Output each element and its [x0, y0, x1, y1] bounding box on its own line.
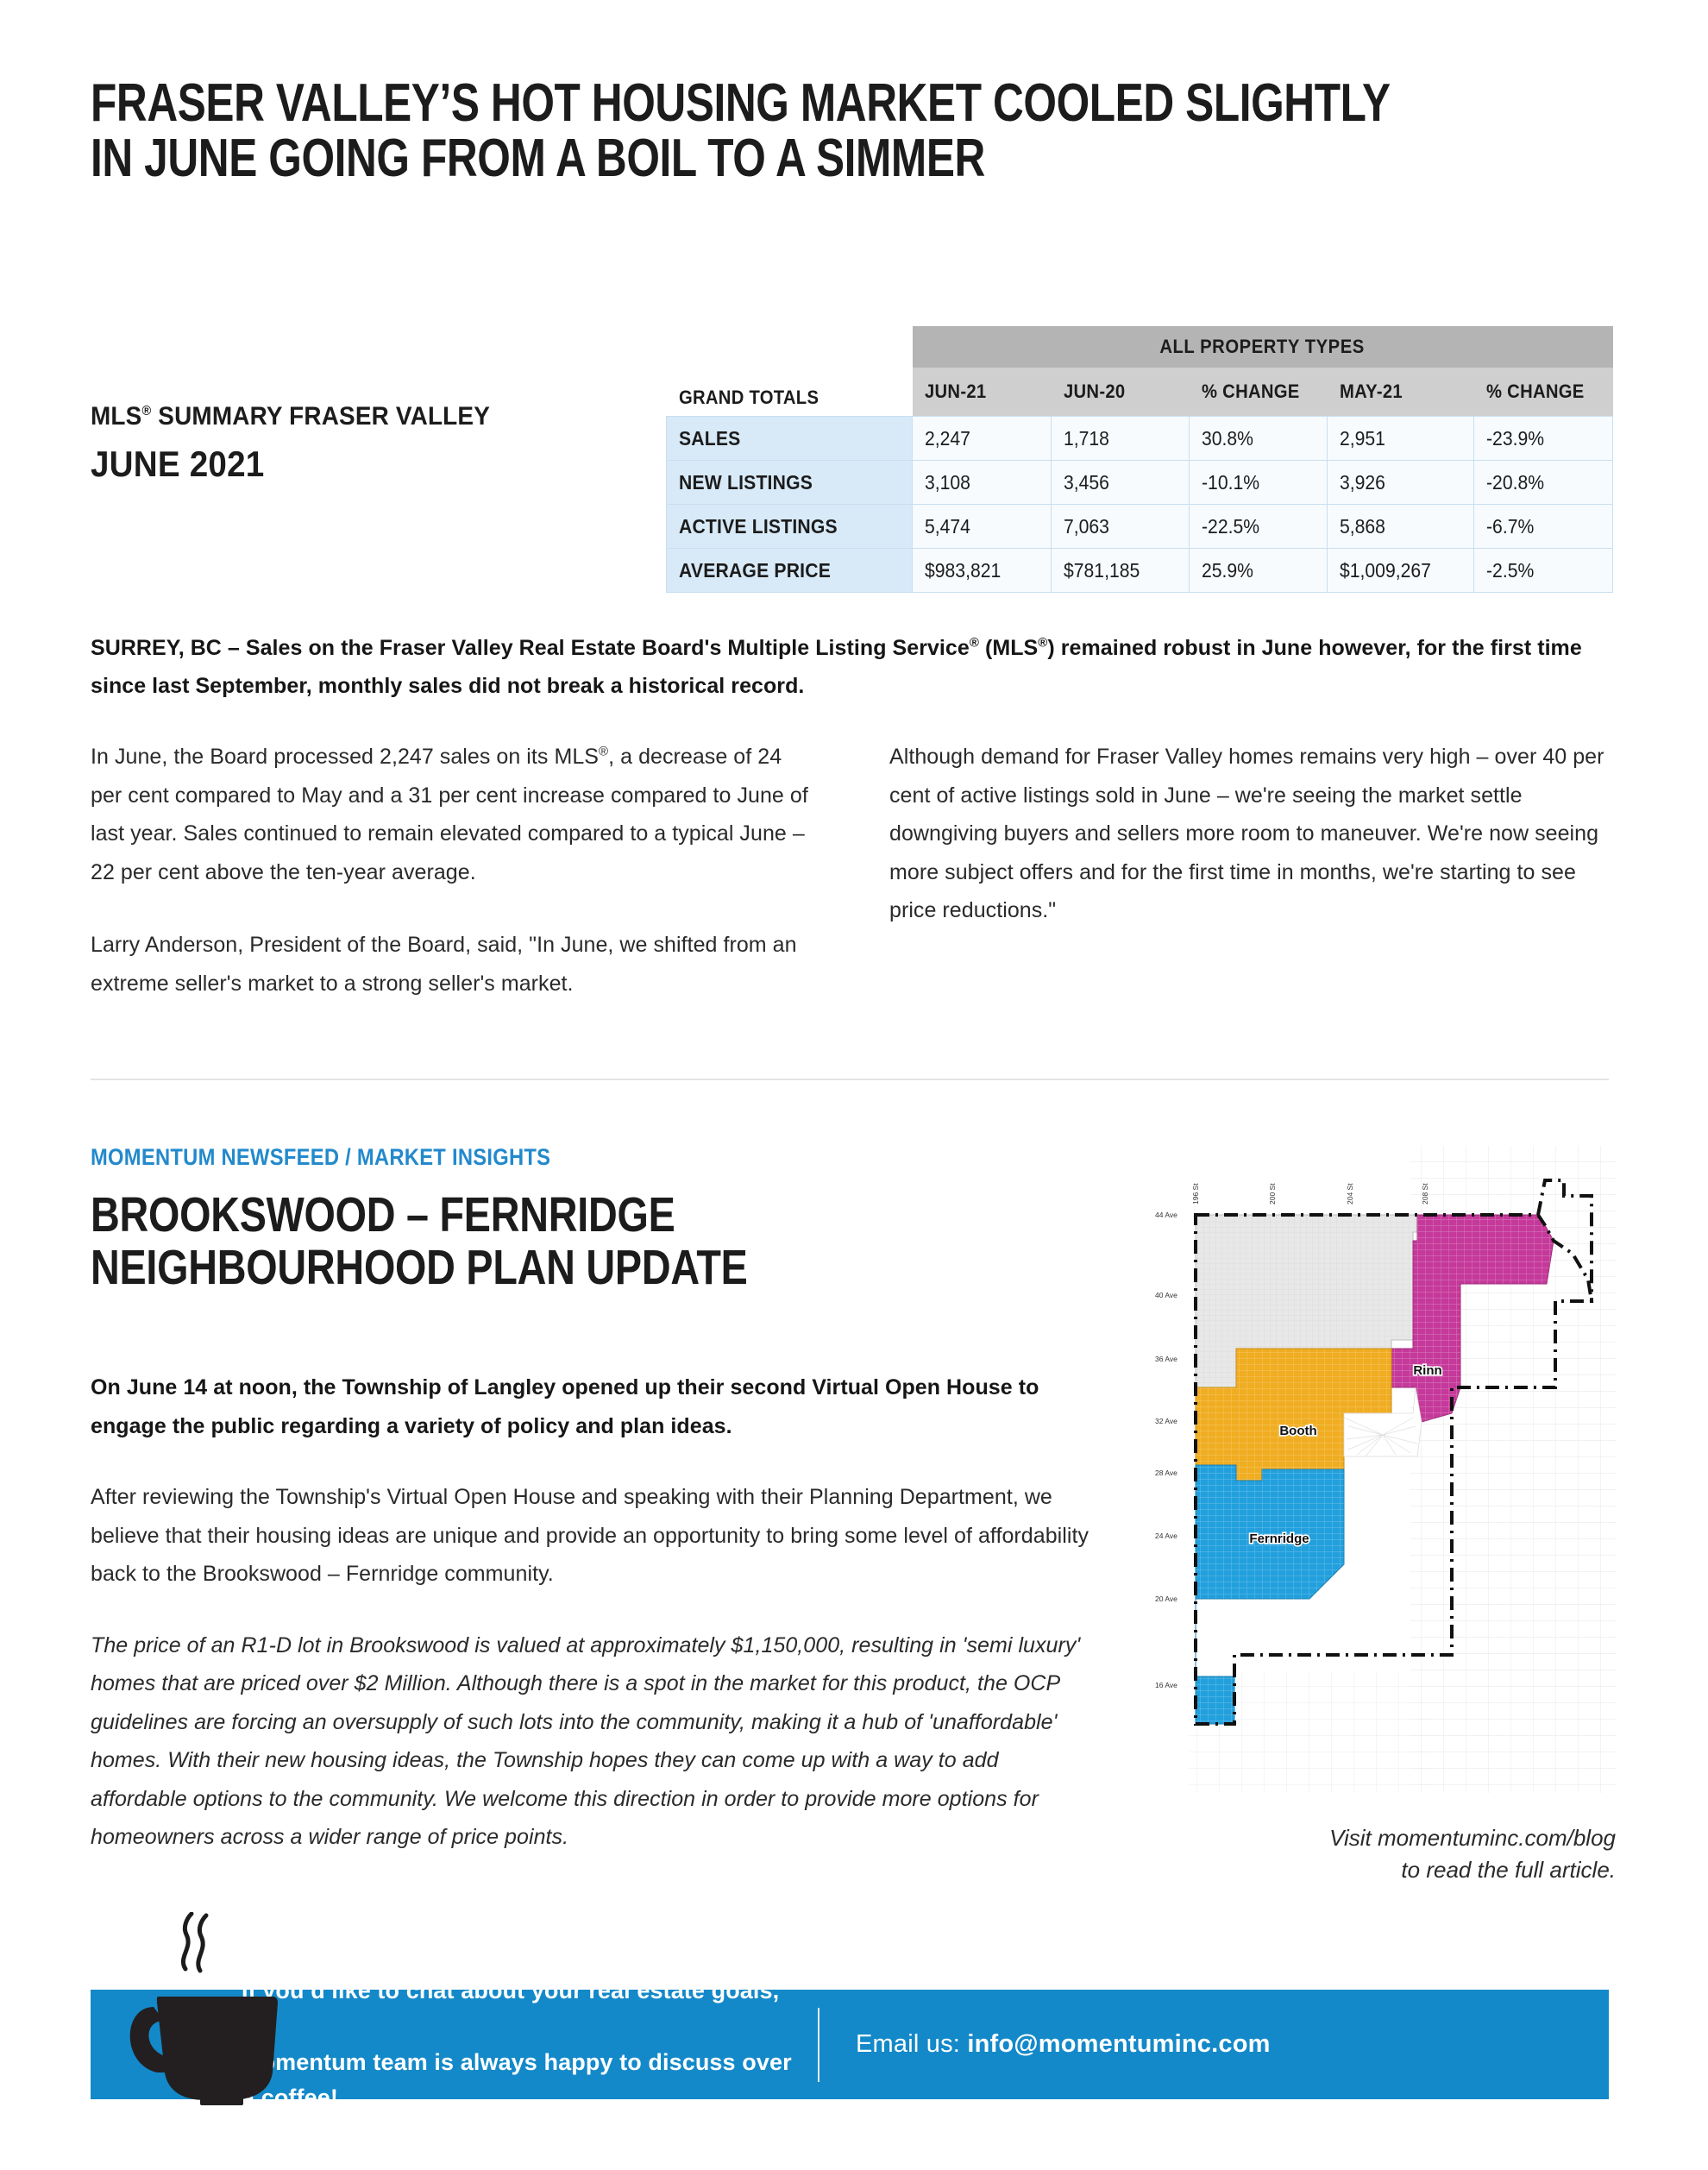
cell-avgprice-jun20: $781,185 [1052, 549, 1190, 593]
table-row: AVERAGE PRICE $983,821 $781,185 25.9% $1… [667, 549, 1613, 593]
cell-activelistings-change2: -6.7% [1474, 505, 1613, 549]
cell-activelistings-may21: 5,868 [1328, 505, 1474, 549]
cta-email-prefix: Email us: [856, 2030, 967, 2058]
table-group-header: ALL PROPERTY TYPES [913, 326, 1613, 368]
map-area-label-booth: Booth [1279, 1424, 1316, 1438]
map-area-label-fernridge: Fernridge [1249, 1532, 1309, 1546]
map-avenue-label: 32 Ave [1155, 1417, 1177, 1425]
registered-mark-icon: ® [970, 636, 979, 651]
map-avenue-label: 28 Ave [1155, 1469, 1177, 1477]
neighbourhood-map: 44 Ave 40 Ave 36 Ave 32 Ave 28 Ave 24 Av… [1107, 1129, 1616, 1793]
newsfeed-title: BROOKSWOOD – FERNRIDGE NEIGHBOURHOOD PLA… [91, 1189, 1108, 1294]
cell-activelistings-jun21: 5,474 [913, 505, 1052, 549]
map-avenue-label: 40 Ave [1155, 1291, 1177, 1299]
newsfeed-kicker: MOMENTUM NEWSFEED / MARKET INSIGHTS [91, 1144, 550, 1171]
headline-line-2: IN JUNE GOING FROM A BOIL TO A SIMMER [91, 131, 1305, 186]
registered-mark-icon: ® [141, 404, 151, 418]
map-area-label-rinn: Rinn [1413, 1363, 1441, 1378]
table-row-label-average-price: AVERAGE PRICE [667, 549, 913, 593]
mls-summary-title: MLS® SUMMARY FRASER VALLEY [91, 402, 588, 431]
stats-table-container: ALL PROPERTY TYPES GRAND TOTALS JUN-21 J… [666, 326, 1609, 593]
table-col-header-jun20: JUN-20 [1052, 368, 1190, 417]
map-caption: Visit momentuminc.com/blog to read the f… [1107, 1822, 1616, 1886]
cell-avgprice-change2: -2.5% [1474, 549, 1613, 593]
section-divider [91, 1079, 1609, 1080]
cell-avgprice-may21: $1,009,267 [1328, 549, 1474, 593]
cell-avgprice-change1: 25.9% [1190, 549, 1328, 593]
cell-sales-may21: 2,951 [1328, 417, 1474, 461]
cta-vertical-rule [818, 2008, 819, 2082]
cell-sales-change2: -23.9% [1474, 417, 1613, 461]
map-avenue-label: 20 Ave [1155, 1594, 1177, 1603]
table-group-header-row: ALL PROPERTY TYPES [667, 326, 1613, 368]
cell-sales-jun20: 1,718 [1052, 417, 1190, 461]
newsfeed-article: On June 14 at noon, the Township of Lang… [91, 1368, 1096, 1890]
mls-summary-title-rest: SUMMARY FRASER VALLEY [151, 402, 490, 431]
article-paragraph: After reviewing the Township's Virtual O… [91, 1478, 1096, 1594]
cup-body [157, 1997, 278, 2100]
mls-summary-title-prefix: MLS [91, 402, 141, 431]
cell-newlistings-change1: -10.1% [1190, 461, 1328, 505]
cta-message: If you’d like to chat about your real es… [242, 1973, 802, 2115]
map-avenue-label: 16 Ave [1155, 1681, 1177, 1689]
map-avenue-label: 44 Ave [1155, 1211, 1177, 1219]
page-title: FRASER VALLEY’S HOT HOUSING MARKET COOLE… [91, 76, 1609, 186]
table-col-header-change-2: % CHANGE [1474, 368, 1613, 417]
steam-wisp-2 [198, 1915, 206, 1971]
map-avenue-label: 24 Ave [1155, 1532, 1177, 1540]
table-row-label-new-listings: NEW LISTINGS [667, 461, 913, 505]
map-avenue-label: 36 Ave [1155, 1355, 1177, 1363]
cell-sales-change1: 30.8% [1190, 417, 1328, 461]
body-paragraph: Larry Anderson, President of the Board, … [91, 926, 809, 1003]
headline-line-1: FRASER VALLEY’S HOT HOUSING MARKET COOLE… [91, 76, 1305, 131]
table-column-header-row: GRAND TOTALS JUN-21 JUN-20 % CHANGE MAY-… [667, 368, 1613, 417]
table-col-header-jun21: JUN-21 [913, 368, 1052, 417]
map-street-label: 200 St [1268, 1183, 1277, 1205]
table-row: NEW LISTINGS 3,108 3,456 -10.1% 3,926 -2… [667, 461, 1613, 505]
body-paragraph: In June, the Board processed 2,247 sales… [91, 738, 809, 891]
grand-totals-table: ALL PROPERTY TYPES GRAND TOTALS JUN-21 J… [666, 326, 1613, 593]
cup-base [200, 2098, 243, 2105]
article-paragraph-lead: On June 14 at noon, the Township of Lang… [91, 1368, 1096, 1445]
table-col-header-may21: MAY-21 [1328, 368, 1474, 417]
map-street-label: 208 St [1421, 1183, 1429, 1205]
cell-newlistings-change2: -20.8% [1474, 461, 1613, 505]
steam-wisp-1 [183, 1914, 192, 1969]
cell-sales-jun21: 2,247 [913, 417, 1052, 461]
map-street-label: 204 St [1346, 1183, 1354, 1205]
article-paragraph-italic: The price of an R1-D lot in Brookswood i… [91, 1626, 1096, 1857]
cell-newlistings-jun20: 3,456 [1052, 461, 1190, 505]
mls-summary-block: MLS® SUMMARY FRASER VALLEY JUNE 2021 [91, 402, 625, 485]
map-street-label: 196 St [1191, 1183, 1200, 1205]
lead-part-2: (MLS [979, 636, 1038, 660]
lead-part-1: SURREY, BC – Sales on the Fraser Valley … [91, 636, 970, 660]
registered-mark-icon: ® [599, 745, 608, 759]
body-columns: In June, the Board processed 2,247 sales… [91, 738, 1609, 1037]
newsfeed-title-line-2: NEIGHBOURHOOD PLAN UPDATE [91, 1242, 926, 1294]
body-column-right: Although demand for Fraser Valley homes … [889, 738, 1608, 1037]
cta-message-line-2: Momentum team is always happy to discuss… [242, 2045, 802, 2116]
lead-paragraph: SURREY, BC – Sales on the Fraser Valley … [91, 630, 1609, 706]
cell-newlistings-may21: 3,926 [1328, 461, 1474, 505]
mls-summary-month: JUNE 2021 [91, 443, 582, 485]
table-col-header-change-1: % CHANGE [1190, 368, 1328, 417]
table-row-label-sales: SALES [667, 417, 913, 461]
table-rowlabel-header: GRAND TOTALS [667, 368, 913, 417]
cta-email-block[interactable]: Email us: info@momentuminc.com [856, 2030, 1271, 2059]
cta-email-address[interactable]: info@momentuminc.com [967, 2030, 1270, 2058]
cell-newlistings-jun21: 3,108 [913, 461, 1052, 505]
cell-activelistings-change1: -22.5% [1190, 505, 1328, 549]
registered-mark-icon: ® [1038, 636, 1047, 651]
table-row: ACTIVE LISTINGS 5,474 7,063 -22.5% 5,868… [667, 505, 1613, 549]
map-caption-line-2: to read the full article. [1107, 1854, 1616, 1886]
map-caption-line-1: Visit momentuminc.com/blog [1107, 1822, 1616, 1854]
body-column-left: In June, the Board processed 2,247 sales… [91, 738, 809, 1037]
newsfeed-title-line-1: BROOKSWOOD – FERNRIDGE [91, 1189, 926, 1242]
table-row: SALES 2,247 1,718 30.8% 2,951 -23.9% [667, 417, 1613, 461]
coffee-cup-icon [104, 1912, 319, 2110]
table-corner-spacer [667, 326, 913, 368]
body-paragraph: Although demand for Fraser Valley homes … [889, 738, 1608, 930]
cta-message-line-1: If you’d like to chat about your real es… [242, 1973, 802, 2044]
map-svg: 44 Ave 40 Ave 36 Ave 32 Ave 28 Ave 24 Av… [1107, 1129, 1616, 1793]
table-rowlabel-header-label: GRAND TOTALS [679, 387, 819, 409]
table-row-label-active-listings: ACTIVE LISTINGS [667, 505, 913, 549]
cell-avgprice-jun21: $983,821 [913, 549, 1052, 593]
cell-activelistings-jun20: 7,063 [1052, 505, 1190, 549]
newsletter-page: FRASER VALLEY’S HOT HOUSING MARKET COOLE… [0, 0, 1708, 2170]
table-group-header-label: ALL PROPERTY TYPES [1160, 336, 1366, 358]
